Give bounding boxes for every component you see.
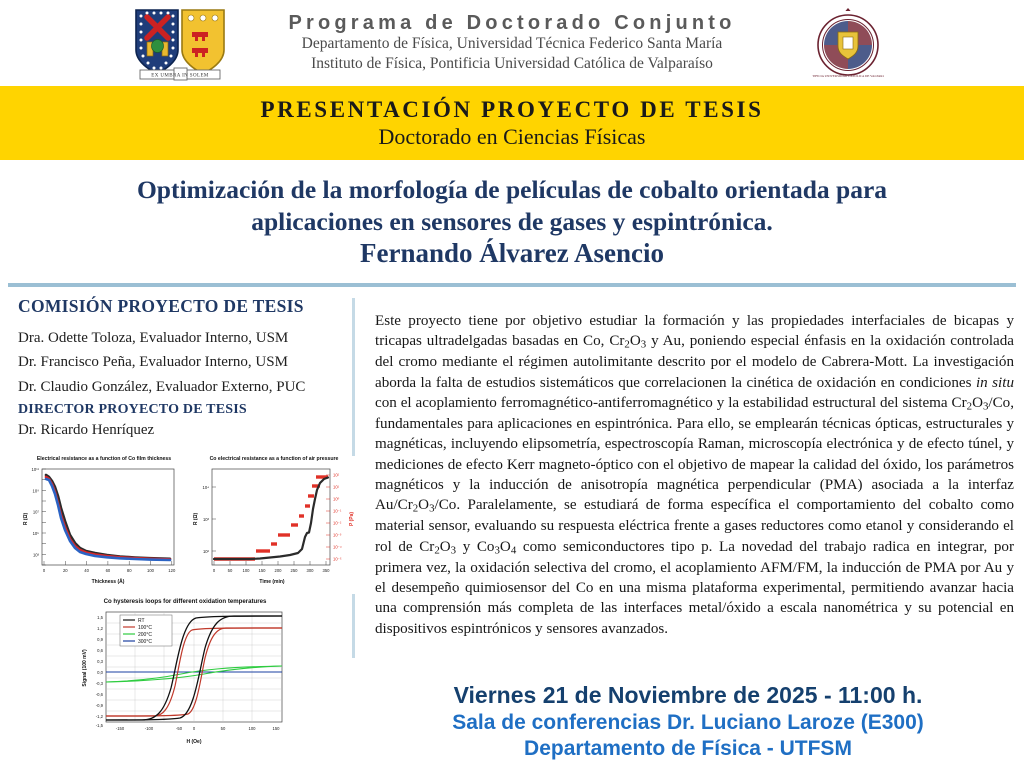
poster-root: EX UMBRA IN SOLEM Programa de Doctorado …: [0, 0, 1024, 768]
figures-group: Electrical resistance as a function of C…: [18, 456, 358, 756]
figure-hysteresis-loops: Co hysteresis loops for different oxidat…: [76, 598, 294, 750]
svg-text:10⁻⁵: 10⁻⁵: [333, 556, 342, 561]
program-title: Programa de Doctorado Conjunto: [288, 12, 735, 34]
pucv-seal-logo: PONTIFICIA UNIVERSIDAD CATÓLICA DE VALPA…: [812, 6, 884, 80]
svg-text:-50: -50: [176, 726, 183, 731]
svg-text:10¹: 10¹: [333, 484, 340, 489]
svg-text:0: 0: [193, 726, 196, 731]
author-name: Fernando Álvarez Asencio: [30, 238, 994, 270]
svg-text:150: 150: [273, 726, 281, 731]
svg-text:10⁻²: 10⁻²: [333, 520, 342, 525]
abstract-italic-in-situ: in situ: [976, 375, 1014, 391]
figure-1-title: Electrical resistance as a function of C…: [20, 457, 188, 463]
svg-text:-1,5: -1,5: [96, 723, 104, 728]
svg-text:50: 50: [221, 726, 226, 731]
svg-text:0,6: 0,6: [97, 648, 103, 653]
svg-text:100: 100: [243, 568, 251, 573]
figure-3-legend-label: 200°C: [138, 632, 152, 638]
abstract-paragraph: Este proyecto tiene por objetivo estudia…: [375, 311, 1014, 639]
committee-heading: COMISIÓN PROYECTO DE TESIS: [18, 296, 346, 317]
abstract-column: Este proyecto tiene por objetivo estudia…: [355, 296, 1024, 668]
event-date: Viernes 21 de Noviembre de 2025 - 11:00 …: [360, 681, 1016, 710]
svg-text:1,2: 1,2: [97, 626, 103, 631]
svg-text:100: 100: [147, 568, 155, 573]
svg-text:10⁴: 10⁴: [203, 485, 210, 490]
figure-1-xlabel: Thickness (Å): [92, 578, 125, 585]
event-department: Departamento de Física - UTFSM: [360, 736, 1016, 762]
committee-member: Dr. Claudio González, Evaluador Externo,…: [18, 375, 346, 399]
abstract-text-f: /Co, fundamentales para aplicaciones en …: [375, 395, 1014, 513]
svg-text:10⁰: 10⁰: [333, 496, 340, 501]
figure-resistance-vs-pressure: Co electrical resistance as a function o…: [190, 456, 358, 594]
director-name: Dr. Ricardo Henríquez: [18, 418, 346, 442]
svg-text:40: 40: [84, 568, 89, 573]
event-room: Sala de conferencias Dr. Luciano Laroze …: [360, 710, 1016, 736]
svg-text:1,5: 1,5: [97, 615, 103, 620]
svg-text:10⁻⁴: 10⁻⁴: [333, 544, 342, 549]
svg-text:60: 60: [106, 568, 111, 573]
svg-text:10¹¹: 10¹¹: [32, 467, 40, 472]
horizontal-divider: [8, 283, 1016, 287]
svg-text:-1,2: -1,2: [96, 714, 104, 719]
committee-member: Dra. Odette Toloza, Evaluador Interno, U…: [18, 326, 346, 350]
svg-text:50: 50: [228, 568, 233, 573]
svg-text:0: 0: [43, 568, 46, 573]
figure-2-plot: 10⁴ 10³ 10²: [190, 463, 358, 593]
body-area: COMISIÓN PROYECTO DE TESIS Dra. Odette T…: [0, 296, 1024, 668]
figure-3-xlabel: H (Oe): [187, 739, 202, 745]
svg-text:100: 100: [249, 726, 257, 731]
abstract-text-j: y Co: [456, 539, 494, 555]
svg-text:80: 80: [127, 568, 132, 573]
figure-3-ylabel: Signal (100 mV): [82, 649, 88, 687]
figure-2-xlabel: Time (min): [259, 579, 285, 585]
banner-subtitle: Doctorado en Ciencias Físicas: [379, 124, 646, 150]
svg-text:10²: 10²: [203, 549, 210, 554]
poster-header: EX UMBRA IN SOLEM Programa de Doctorado …: [0, 0, 1024, 86]
svg-text:10³: 10³: [203, 517, 210, 522]
svg-text:-0,9: -0,9: [96, 703, 104, 708]
figure-resistance-vs-thickness: Electrical resistance as a function of C…: [20, 456, 188, 594]
svg-text:350: 350: [323, 568, 331, 573]
svg-text:250: 250: [291, 568, 299, 573]
svg-text:10⁷: 10⁷: [33, 510, 40, 515]
event-info-block: Viernes 21 de Noviembre de 2025 - 11:00 …: [360, 681, 1016, 762]
svg-text:0,9: 0,9: [97, 637, 103, 642]
header-text-block: Programa de Doctorado Conjunto Departame…: [278, 12, 745, 74]
pucv-seal-caption: PONTIFICIA UNIVERSIDAD CATÓLICA DE VALPA…: [812, 73, 884, 78]
svg-text:20: 20: [63, 568, 68, 573]
abstract-o: O: [972, 395, 983, 411]
svg-text:-150: -150: [116, 726, 125, 731]
svg-text:120: 120: [168, 568, 176, 573]
abstract-o: O: [440, 539, 451, 555]
figure-3-legend-label: RT: [138, 618, 145, 624]
svg-text:10²: 10²: [333, 472, 340, 477]
committee-column: COMISIÓN PROYECTO DE TESIS Dra. Odette T…: [0, 296, 352, 668]
figure-2-ylabel: R (Ω): [193, 512, 199, 525]
committee-member: Dr. Francisco Peña, Evaluador Interno, U…: [18, 350, 346, 374]
figure-3-title: Co hysteresis loops for different oxidat…: [76, 599, 294, 606]
figure-3-legend: RT 100°C 200°C 300°C: [120, 615, 172, 646]
thesis-title-block: Optimización de la morfología de películ…: [0, 160, 1024, 276]
figure-1-plot: 10¹¹ 10⁹ 10⁷ 10⁵ 10³: [20, 463, 188, 593]
svg-text:10⁹: 10⁹: [33, 488, 40, 493]
svg-text:-0,3: -0,3: [96, 681, 104, 686]
svg-text:-0,6: -0,6: [96, 692, 104, 697]
svg-text:300: 300: [307, 568, 315, 573]
svg-text:10⁻¹: 10⁻¹: [333, 508, 342, 513]
figure-1-ylabel: R (Ω): [23, 512, 29, 525]
figure-3-legend-label: 100°C: [138, 625, 152, 631]
figure-2-ylabel-right: P (Pa): [349, 512, 355, 526]
svg-text:0: 0: [213, 568, 216, 573]
svg-text:10⁻³: 10⁻³: [333, 532, 342, 537]
svg-text:10⁵: 10⁵: [33, 531, 40, 536]
abstract-o: O: [500, 539, 511, 555]
svg-text:200: 200: [275, 568, 283, 573]
abstract-o: O: [630, 333, 641, 349]
abstract-o: O: [418, 497, 429, 513]
banner-title: PRESENTACIÓN PROYECTO DE TESIS: [261, 98, 764, 122]
figure-3-legend-label: 300°C: [138, 639, 152, 645]
thesis-title-line-1: Optimización de la morfología de películ…: [30, 174, 994, 206]
svg-text:0,0: 0,0: [97, 670, 103, 675]
thesis-title-line-2: aplicaciones en sensores de gases y espi…: [30, 206, 994, 238]
usm-motto-text: EX UMBRA IN SOLEM: [151, 74, 209, 79]
header-affiliation-line-2: Instituto de Física, Pontificia Universi…: [288, 54, 735, 74]
header-affiliation-line-1: Departamento de Física, Universidad Técn…: [288, 34, 735, 54]
svg-text:150: 150: [259, 568, 267, 573]
usm-coat-of-arms-logo: EX UMBRA IN SOLEM: [128, 4, 232, 82]
svg-text:10³: 10³: [33, 552, 40, 557]
director-heading: DIRECTOR PROYECTO DE TESIS: [18, 402, 346, 418]
yellow-banner: PRESENTACIÓN PROYECTO DE TESIS Doctorado…: [0, 86, 1024, 160]
abstract-text-d: con el acoplamiento ferromagnético-antif…: [375, 395, 967, 411]
figure-2-title: Co electrical resistance as a function o…: [190, 457, 358, 463]
figure-3-plot: 1,5 1,2 0,9 0,6 0,3 0,0 -0,3 -0,6 -0,9 -…: [76, 606, 294, 750]
svg-text:0,3: 0,3: [97, 659, 103, 664]
svg-text:-100: -100: [145, 726, 154, 731]
